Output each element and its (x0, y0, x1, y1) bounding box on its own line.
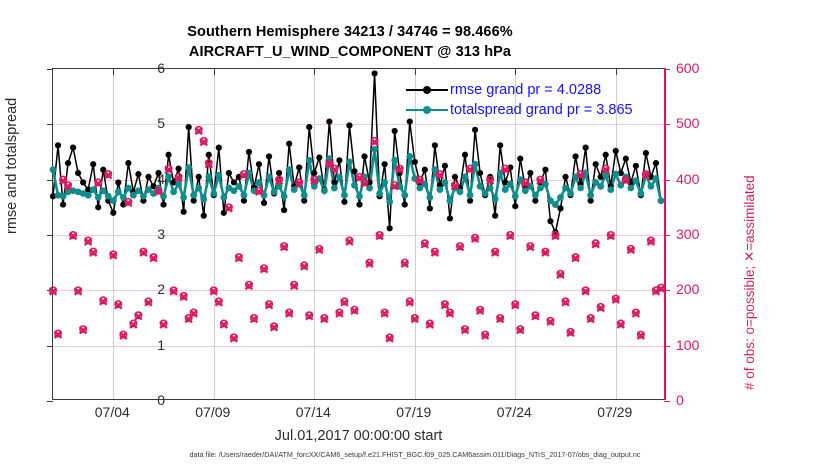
left-tick-label: 6 (125, 60, 165, 76)
data-point (296, 164, 302, 170)
data-point (492, 213, 498, 219)
data-file-footer: data file: /Users/raeder/DAI/ATM_forcXX/… (0, 450, 830, 459)
data-point (125, 160, 131, 166)
data-point (542, 167, 548, 173)
data-point (532, 192, 539, 199)
data-point (110, 210, 116, 216)
data-point (281, 193, 288, 200)
left-tick-label: 3 (125, 226, 165, 242)
data-point (401, 192, 408, 199)
figure-root: Southern Hemisphere 34213 / 34746 = 98.4… (0, 0, 830, 470)
data-point (472, 127, 478, 133)
data-point (577, 185, 584, 192)
data-point (637, 190, 644, 197)
data-point (512, 193, 519, 200)
data-point (185, 164, 192, 171)
data-point (170, 188, 177, 195)
data-point (356, 193, 363, 200)
x-tick-label: 07/14 (296, 404, 331, 420)
data-point (502, 186, 509, 193)
data-point (648, 183, 655, 190)
data-point (653, 175, 660, 182)
legend-item-totalspread[interactable]: totalspread grand pr = 3.865 (406, 100, 656, 120)
data-point (331, 185, 338, 192)
data-point (95, 204, 101, 210)
data-point (527, 170, 533, 176)
legend-label-rmse: rmse grand pr = 4.0288 (450, 82, 601, 98)
data-point (60, 201, 66, 207)
data-point (180, 194, 187, 201)
data-point (517, 156, 523, 162)
data-point (427, 205, 433, 211)
data-point (583, 144, 589, 150)
data-point (612, 171, 619, 178)
x-tick-label: 07/24 (497, 404, 532, 420)
x-tick-label: 07/19 (396, 404, 431, 420)
data-point (613, 148, 619, 154)
data-point (321, 187, 328, 194)
data-point (90, 161, 96, 167)
right-tick-label: 300 (676, 226, 722, 242)
data-point (95, 194, 102, 201)
data-point (236, 183, 243, 190)
data-point (447, 197, 454, 204)
data-point (110, 197, 117, 204)
data-point (462, 152, 468, 158)
data-point (402, 201, 408, 207)
data-point (643, 150, 649, 156)
data-point (436, 186, 443, 193)
data-point (587, 192, 594, 199)
data-point (256, 179, 263, 186)
left-tick-label: 0 (125, 392, 165, 408)
data-point (391, 157, 398, 164)
legend-swatch-rmse (406, 89, 448, 92)
data-point (452, 174, 458, 180)
data-point (176, 166, 182, 172)
data-point (220, 194, 227, 201)
data-point (567, 190, 574, 197)
data-point (371, 70, 377, 76)
data-point (392, 128, 398, 134)
data-point (50, 166, 57, 173)
chart-title-line2: AIRCRAFT_U_WIND_COMPONENT @ 313 hPa (0, 44, 700, 60)
right-axis-label: # of obs: o=possible; ✕=assimilated (742, 175, 758, 390)
data-point (382, 161, 388, 167)
data-point (603, 152, 609, 158)
data-point (341, 192, 348, 199)
left-axis-label: rmse and totalspread (4, 98, 20, 234)
data-point (266, 174, 273, 181)
data-point (115, 188, 122, 195)
data-point (135, 187, 142, 194)
right-tick-label: 0 (676, 392, 722, 408)
data-point (386, 198, 393, 205)
data-point (623, 156, 629, 162)
data-point (301, 192, 308, 199)
data-point (422, 167, 428, 173)
data-point (65, 160, 71, 166)
data-point (160, 201, 166, 207)
data-point (70, 144, 76, 150)
data-point (477, 170, 483, 176)
data-point (205, 174, 212, 181)
data-point (432, 142, 438, 148)
data-point (271, 188, 278, 195)
data-point (492, 196, 499, 203)
data-point (412, 159, 418, 165)
data-point (215, 172, 222, 179)
left-tick-label: 5 (125, 115, 165, 131)
x-tick-label: 07/04 (95, 404, 130, 420)
data-point (346, 159, 353, 166)
tick-right (664, 401, 670, 402)
data-point (376, 190, 383, 197)
data-point (351, 168, 357, 174)
data-point (547, 218, 553, 224)
data-point (562, 185, 569, 192)
data-point (346, 122, 352, 128)
data-point (381, 179, 388, 186)
data-point (210, 190, 217, 197)
data-point (507, 181, 514, 188)
data-point (477, 183, 484, 190)
data-point (326, 118, 332, 124)
data-point (55, 142, 61, 148)
left-tick-label: 1 (125, 337, 165, 353)
data-point (216, 144, 222, 150)
data-point (341, 199, 347, 205)
legend-label-totalspread: totalspread grand pr = 3.865 (450, 102, 633, 118)
data-point (140, 193, 147, 200)
data-point (562, 174, 568, 180)
data-point (306, 157, 313, 164)
data-point (482, 190, 489, 197)
data-point (190, 192, 197, 199)
data-point (356, 201, 362, 207)
data-point (627, 185, 634, 192)
right-tick-label: 400 (676, 171, 722, 187)
legend-item-rmse[interactable]: rmse grand pr = 4.0288 (406, 80, 656, 100)
x-axis-label: Jul.01,2017 00:00:00 start (52, 428, 665, 444)
data-point (512, 203, 518, 209)
data-point (497, 142, 503, 148)
data-point (336, 174, 343, 181)
left-tick-label: 2 (125, 281, 165, 297)
data-point (557, 194, 564, 201)
data-point (447, 215, 453, 221)
data-point (426, 194, 433, 201)
data-point (462, 174, 469, 181)
data-point (196, 174, 202, 180)
right-axis-spine (664, 68, 666, 400)
data-point (593, 161, 599, 167)
data-point (361, 153, 367, 159)
data-point (633, 163, 639, 169)
data-point (206, 152, 212, 158)
right-tick-label: 100 (676, 337, 722, 353)
data-point (442, 163, 448, 169)
data-point (100, 187, 107, 194)
data-point (281, 207, 287, 213)
data-point (85, 192, 92, 199)
data-point (226, 170, 232, 176)
right-tick-label: 200 (676, 281, 722, 297)
data-point (266, 153, 272, 159)
data-point (261, 200, 267, 206)
data-point (286, 141, 292, 147)
data-point (351, 182, 358, 189)
data-point (75, 170, 81, 176)
data-point (276, 170, 282, 176)
data-point (200, 196, 207, 203)
data-point (406, 153, 413, 160)
data-point (256, 161, 262, 167)
data-point (371, 146, 378, 153)
data-point (467, 192, 474, 199)
data-point (115, 179, 121, 185)
data-point (632, 177, 639, 184)
data-point (442, 179, 449, 186)
data-point (607, 186, 614, 193)
data-point (181, 209, 187, 215)
data-point (201, 213, 207, 219)
data-point (241, 192, 248, 199)
data-point (186, 124, 192, 130)
chart-title-line1: Southern Hemisphere 34213 / 34746 = 98.4… (0, 24, 700, 40)
x-tick-label: 07/09 (195, 404, 230, 420)
data-point (306, 124, 312, 130)
data-point (552, 201, 559, 208)
data-point (316, 154, 322, 160)
right-tick-label: 500 (676, 115, 722, 131)
data-point (246, 149, 252, 155)
chart-legend: rmse grand pr = 4.0288 totalspread grand… (406, 80, 656, 120)
data-point (165, 152, 171, 158)
legend-swatch-totalspread (406, 109, 448, 112)
data-point (311, 170, 317, 176)
data-point (195, 185, 202, 192)
data-point (80, 179, 86, 185)
right-tick-label: 600 (676, 60, 722, 76)
data-point (286, 166, 293, 173)
tick-left (47, 401, 53, 402)
x-tick-label: 07/29 (597, 404, 632, 420)
data-point (572, 153, 578, 159)
data-point (487, 185, 494, 192)
left-tick-label: 4 (125, 171, 165, 187)
data-point (336, 157, 342, 163)
data-point (597, 183, 604, 190)
data-point (165, 174, 172, 181)
data-point (387, 225, 393, 231)
data-point (653, 160, 659, 166)
